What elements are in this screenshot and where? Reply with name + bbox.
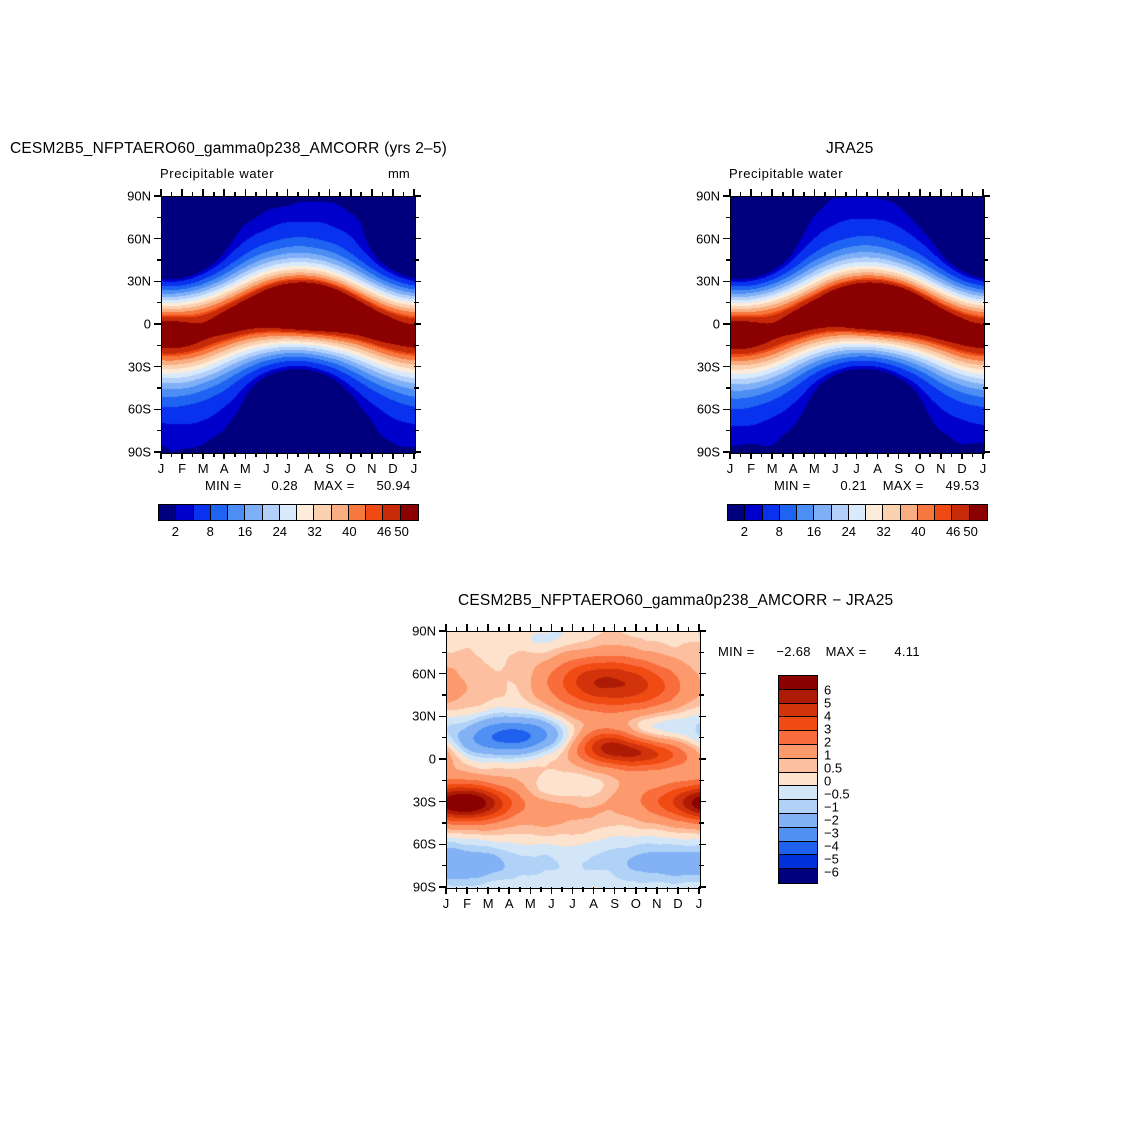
- y-tick: [983, 259, 988, 261]
- y-tick: [157, 430, 162, 432]
- x-tick-minor: [498, 887, 500, 892]
- x-tick-minor: [582, 887, 584, 892]
- x-tick: [371, 452, 373, 459]
- x-tick: [223, 452, 225, 459]
- y-tick-label: 0: [394, 752, 436, 767]
- x-tick-minor: [908, 192, 910, 197]
- y-tick: [726, 217, 731, 219]
- max-label: MAX =: [883, 478, 924, 493]
- colorbar-cell: [797, 505, 814, 520]
- colorbar-cell: [779, 786, 817, 800]
- y-tick-label: 30S: [394, 794, 436, 809]
- x-tick-minor: [477, 887, 479, 892]
- y-tick: [723, 451, 730, 453]
- y-tick: [726, 302, 731, 304]
- x-tick-minor: [360, 192, 362, 197]
- x-tick: [466, 624, 468, 631]
- y-tick: [414, 409, 421, 411]
- x-tick: [982, 452, 984, 459]
- x-tick-minor: [382, 192, 384, 197]
- colorbar-cell: [763, 505, 780, 520]
- y-tick: [699, 780, 704, 782]
- y-tick: [442, 652, 447, 654]
- colorbar-labels-obs: 28162432404650: [727, 524, 986, 542]
- colorbar-cell: [780, 505, 797, 520]
- colorbar-cell: [728, 505, 745, 520]
- y-tick: [723, 366, 730, 368]
- x-tick: [266, 189, 268, 196]
- x-tick-minor: [740, 192, 742, 197]
- colorbar-tick-label: 32: [307, 524, 321, 539]
- y-tick: [157, 302, 162, 304]
- y-tick-label: 30N: [394, 709, 436, 724]
- y-tick: [723, 238, 730, 240]
- x-tick-minor: [297, 192, 299, 197]
- x-tick-minor: [887, 452, 889, 457]
- colorbar-tick-label: 50: [963, 524, 977, 539]
- x-tick: [750, 452, 752, 459]
- y-tick: [414, 259, 419, 261]
- colorbar-tick-label: 16: [238, 524, 252, 539]
- colorbar-cell: [952, 505, 969, 520]
- x-tick-minor: [234, 192, 236, 197]
- x-tick: [202, 452, 204, 459]
- x-tick: [771, 189, 773, 196]
- colorbar-cell: [176, 505, 193, 520]
- colorbar-cell: [366, 505, 383, 520]
- y-tick: [699, 822, 704, 824]
- y-tick: [414, 451, 421, 453]
- x-tick-label: J: [980, 461, 987, 476]
- x-tick-minor: [540, 627, 542, 632]
- x-tick: [814, 189, 816, 196]
- x-tick-minor: [951, 192, 953, 197]
- colorbar-tick-label: 46: [946, 524, 960, 539]
- x-tick-label: J: [284, 461, 291, 476]
- colorbar-model: [158, 504, 419, 521]
- colorbar-cell: [245, 505, 262, 520]
- panel-obs-subtitle: Precipitable water: [729, 166, 843, 181]
- x-tick-minor: [866, 452, 868, 457]
- y-tick: [414, 217, 419, 219]
- y-tick: [439, 716, 446, 718]
- colorbar-cell: [832, 505, 849, 520]
- y-tick: [414, 387, 419, 389]
- x-tick-label: A: [220, 461, 229, 476]
- colorbar-cell: [332, 505, 349, 520]
- colorbar-tick-label: 2: [172, 524, 179, 539]
- y-tick: [442, 865, 447, 867]
- colorbar-cell: [159, 505, 176, 520]
- colorbar-cell: [935, 505, 952, 520]
- y-tick: [414, 345, 419, 347]
- min-value: 0.21: [840, 478, 867, 493]
- x-tick-label: S: [325, 461, 334, 476]
- x-tick-label: J: [832, 461, 839, 476]
- y-tick-label: 30N: [109, 274, 151, 289]
- y-tick-label: 90N: [678, 189, 720, 204]
- x-tick-label: D: [673, 896, 682, 911]
- colorbar-cell: [779, 855, 817, 869]
- y-tick-label: 60S: [678, 402, 720, 417]
- x-tick-minor: [761, 452, 763, 457]
- colorbar-cell: [211, 505, 228, 520]
- x-tick-minor: [561, 627, 563, 632]
- colorbar-cell: [779, 690, 817, 704]
- y-tick: [699, 716, 706, 718]
- x-tick-minor: [360, 452, 362, 457]
- x-tick: [635, 887, 637, 894]
- x-tick-minor: [603, 887, 605, 892]
- x-tick-minor: [213, 452, 215, 457]
- y-tick-label: 90N: [394, 624, 436, 639]
- x-tick-label: O: [631, 896, 641, 911]
- panel-diff-minmax: MIN = −2.68 MAX = 4.11: [718, 644, 920, 659]
- y-tick: [439, 844, 446, 846]
- x-tick: [350, 452, 352, 459]
- x-tick: [487, 624, 489, 631]
- y-tick: [439, 630, 446, 632]
- x-tick-label: A: [873, 461, 882, 476]
- heatmap-canvas-model: [162, 197, 415, 453]
- x-tick-minor: [845, 452, 847, 457]
- max-label: MAX =: [314, 478, 355, 493]
- x-tick-minor: [972, 192, 974, 197]
- y-tick: [983, 366, 990, 368]
- y-tick: [154, 366, 161, 368]
- y-tick: [723, 409, 730, 411]
- colorbar-obs: [727, 504, 988, 521]
- colorbar-tick-label: 2: [741, 524, 748, 539]
- x-tick-label: S: [894, 461, 903, 476]
- colorbar-cell: [779, 800, 817, 814]
- x-tick-minor: [192, 452, 194, 457]
- colorbar-cell: [280, 505, 297, 520]
- x-tick-label: J: [263, 461, 270, 476]
- max-value: 4.11: [894, 644, 920, 659]
- x-tick-minor: [824, 452, 826, 457]
- x-tick: [530, 887, 532, 894]
- colorbar-cell: [779, 676, 817, 690]
- y-tick: [983, 281, 990, 283]
- x-tick: [551, 887, 553, 894]
- x-tick-label: A: [589, 896, 598, 911]
- x-tick-label: M: [240, 461, 251, 476]
- colorbar-tick-label: 24: [273, 524, 287, 539]
- x-tick-label: F: [463, 896, 471, 911]
- x-tick: [181, 452, 183, 459]
- colorbar-tick-label: 16: [807, 524, 821, 539]
- colorbar-cell: [779, 869, 817, 883]
- x-tick: [835, 452, 837, 459]
- x-tick: [614, 887, 616, 894]
- x-tick-label: O: [346, 461, 356, 476]
- x-tick-minor: [951, 452, 953, 457]
- colorbar-tick-label: 40: [342, 524, 356, 539]
- y-tick: [439, 801, 446, 803]
- x-tick-minor: [667, 887, 669, 892]
- x-tick: [656, 887, 658, 894]
- x-tick-minor: [908, 452, 910, 457]
- x-tick-minor: [276, 192, 278, 197]
- y-tick-label: 0: [109, 317, 151, 332]
- colorbar-tick-label: 24: [842, 524, 856, 539]
- panel-model-title: CESM2B5_NFPTAERO60_gamma0p238_AMCORR (yr…: [10, 140, 447, 158]
- colorbar-cell: [779, 745, 817, 759]
- x-tick: [940, 189, 942, 196]
- x-tick-minor: [540, 887, 542, 892]
- x-tick: [593, 887, 595, 894]
- panel-obs-title: JRA25: [826, 140, 874, 158]
- colorbar-tick-label: 32: [876, 524, 890, 539]
- x-tick-minor: [603, 627, 605, 632]
- y-tick: [154, 281, 161, 283]
- max-value: 49.53: [945, 478, 979, 493]
- colorbar-labels-model: 28162432404650: [158, 524, 417, 542]
- x-tick-minor: [477, 627, 479, 632]
- y-tick: [699, 865, 704, 867]
- colorbar-cell: [779, 717, 817, 731]
- x-tick: [940, 452, 942, 459]
- y-tick: [154, 409, 161, 411]
- colorbar-cell: [383, 505, 400, 520]
- min-value: 0.28: [271, 478, 298, 493]
- x-tick-minor: [561, 887, 563, 892]
- y-tick: [414, 323, 421, 325]
- x-tick: [413, 452, 415, 459]
- y-tick: [699, 652, 704, 654]
- y-tick: [723, 281, 730, 283]
- x-tick-minor: [645, 887, 647, 892]
- y-tick: [699, 758, 706, 760]
- y-tick-label: 90N: [109, 189, 151, 204]
- colorbar-cell: [849, 505, 866, 520]
- x-tick: [392, 189, 394, 196]
- x-tick: [371, 189, 373, 196]
- y-tick-label: 60N: [109, 231, 151, 246]
- x-tick-label: F: [178, 461, 186, 476]
- y-tick-label: 60S: [109, 402, 151, 417]
- y-tick: [983, 238, 990, 240]
- plot-area-model: [161, 196, 416, 454]
- y-tick: [442, 737, 447, 739]
- x-tick: [308, 189, 310, 196]
- colorbar-cell: [228, 505, 245, 520]
- x-tick: [593, 624, 595, 631]
- x-tick-label: M: [198, 461, 209, 476]
- x-tick: [245, 189, 247, 196]
- colorbar-cell: [883, 505, 900, 520]
- y-tick-label: 30N: [678, 274, 720, 289]
- x-tick: [223, 189, 225, 196]
- x-tick: [792, 452, 794, 459]
- x-tick-minor: [929, 192, 931, 197]
- x-tick: [919, 189, 921, 196]
- x-tick-label: J: [411, 461, 418, 476]
- y-tick: [157, 259, 162, 261]
- y-tick: [414, 195, 421, 197]
- x-tick-label: J: [158, 461, 165, 476]
- x-tick: [614, 624, 616, 631]
- x-tick-minor: [645, 627, 647, 632]
- plot-area-obs: [730, 196, 985, 454]
- y-tick: [726, 387, 731, 389]
- x-tick: [572, 624, 574, 631]
- y-tick: [442, 694, 447, 696]
- colorbar-cell: [866, 505, 883, 520]
- y-tick-label: 30S: [678, 359, 720, 374]
- x-tick-minor: [213, 192, 215, 197]
- x-tick: [487, 887, 489, 894]
- x-tick-minor: [761, 192, 763, 197]
- x-tick-minor: [582, 627, 584, 632]
- x-tick-label: N: [367, 461, 376, 476]
- panel-model-units: mm: [388, 166, 410, 181]
- x-tick: [572, 887, 574, 894]
- x-tick-minor: [519, 887, 521, 892]
- x-tick-minor: [171, 192, 173, 197]
- y-tick-label: 0: [678, 317, 720, 332]
- x-tick: [919, 452, 921, 459]
- x-tick: [635, 624, 637, 631]
- heatmap-canvas-obs: [731, 197, 984, 453]
- colorbar-tick-label: 40: [911, 524, 925, 539]
- x-tick: [750, 189, 752, 196]
- x-tick-minor: [624, 627, 626, 632]
- colorbar-cell: [779, 828, 817, 842]
- y-tick: [154, 195, 161, 197]
- y-tick: [414, 238, 421, 240]
- colorbar-cell: [779, 731, 817, 745]
- y-tick: [414, 366, 421, 368]
- x-tick-minor: [403, 452, 405, 457]
- x-tick-minor: [339, 192, 341, 197]
- x-tick-minor: [972, 452, 974, 457]
- x-tick-minor: [824, 192, 826, 197]
- y-tick: [723, 323, 730, 325]
- y-tick: [699, 673, 706, 675]
- y-tick: [414, 430, 419, 432]
- x-tick-label: A: [304, 461, 313, 476]
- y-tick: [983, 217, 988, 219]
- x-tick: [287, 189, 289, 196]
- x-tick: [266, 452, 268, 459]
- x-tick: [698, 887, 700, 894]
- x-tick: [350, 189, 352, 196]
- colorbar-cell: [745, 505, 762, 520]
- x-tick-label: J: [443, 896, 450, 911]
- x-tick: [729, 452, 731, 459]
- x-tick-label: J: [569, 896, 576, 911]
- min-label: MIN =: [205, 478, 242, 493]
- x-tick: [445, 887, 447, 894]
- x-tick-minor: [519, 627, 521, 632]
- x-tick-label: J: [548, 896, 555, 911]
- x-tick-label: D: [388, 461, 397, 476]
- x-tick: [466, 887, 468, 894]
- min-value: −2.68: [776, 644, 810, 659]
- y-tick: [414, 302, 419, 304]
- y-tick-label: 60N: [678, 231, 720, 246]
- colorbar-cell: [314, 505, 331, 520]
- x-tick-minor: [866, 192, 868, 197]
- y-tick: [726, 430, 731, 432]
- x-tick: [961, 189, 963, 196]
- x-tick-label: N: [936, 461, 945, 476]
- y-tick: [157, 387, 162, 389]
- colorbar-tick-label: 8: [776, 524, 783, 539]
- y-tick-label: 60S: [394, 837, 436, 852]
- y-tick: [157, 217, 162, 219]
- x-tick-minor: [403, 192, 405, 197]
- x-tick: [677, 624, 679, 631]
- x-tick-minor: [255, 192, 257, 197]
- x-tick-label: M: [483, 896, 494, 911]
- y-tick: [154, 323, 161, 325]
- x-tick-minor: [688, 627, 690, 632]
- x-tick-minor: [624, 887, 626, 892]
- y-tick: [983, 430, 988, 432]
- x-tick: [877, 452, 879, 459]
- x-tick: [181, 189, 183, 196]
- x-tick-label: A: [789, 461, 798, 476]
- y-tick: [157, 345, 162, 347]
- y-tick: [699, 694, 704, 696]
- x-tick: [792, 189, 794, 196]
- x-tick-minor: [929, 452, 931, 457]
- x-tick-minor: [667, 627, 669, 632]
- y-tick-label: 90S: [394, 880, 436, 895]
- colorbar-tick-label: −6: [824, 864, 839, 879]
- x-tick: [508, 624, 510, 631]
- y-tick: [726, 345, 731, 347]
- x-tick: [329, 452, 331, 459]
- x-tick: [877, 189, 879, 196]
- x-tick-label: A: [505, 896, 514, 911]
- panel-model-subtitle: Precipitable water: [160, 166, 274, 181]
- x-tick-minor: [803, 452, 805, 457]
- y-tick: [699, 801, 706, 803]
- x-tick-minor: [803, 192, 805, 197]
- panel-diff-title: CESM2B5_NFPTAERO60_gamma0p238_AMCORR − J…: [458, 592, 893, 610]
- y-tick-label: 90S: [678, 445, 720, 460]
- colorbar-cell: [779, 814, 817, 828]
- y-tick: [439, 673, 446, 675]
- x-tick: [392, 452, 394, 459]
- y-tick: [154, 238, 161, 240]
- y-tick: [983, 387, 988, 389]
- x-tick-label: J: [696, 896, 703, 911]
- y-tick: [983, 451, 990, 453]
- colorbar-cell: [349, 505, 366, 520]
- colorbar-cell: [779, 842, 817, 856]
- x-tick: [856, 452, 858, 459]
- x-tick-minor: [297, 452, 299, 457]
- x-tick-minor: [498, 627, 500, 632]
- x-tick-label: N: [652, 896, 661, 911]
- x-tick: [530, 624, 532, 631]
- colorbar-tick-label: 50: [394, 524, 408, 539]
- x-tick-label: J: [853, 461, 860, 476]
- min-label: MIN =: [774, 478, 811, 493]
- x-tick: [329, 189, 331, 196]
- y-tick: [154, 451, 161, 453]
- x-tick-label: M: [525, 896, 536, 911]
- x-tick: [961, 452, 963, 459]
- x-tick: [771, 452, 773, 459]
- y-tick: [439, 886, 446, 888]
- colorbar-cell: [918, 505, 935, 520]
